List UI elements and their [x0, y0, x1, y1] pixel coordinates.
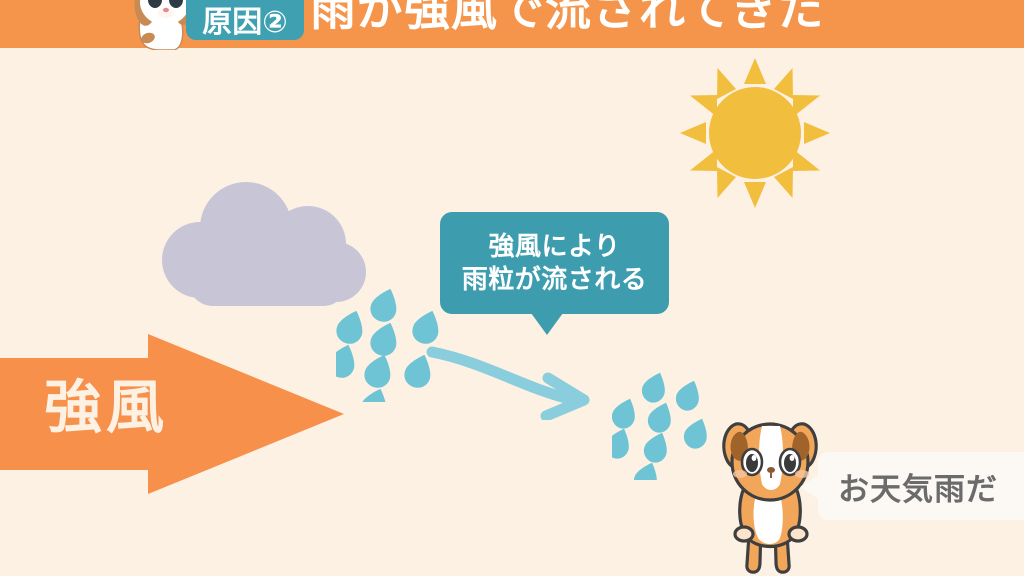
- wind-arrow-label: 強風: [44, 379, 168, 437]
- callout-text: 強風により 雨粒が流される: [440, 212, 669, 314]
- slide-canvas: 原因② 雨が強風で流されてきた: [0, 0, 1024, 576]
- speech-bubble: お天気雨だ: [818, 452, 1024, 520]
- sun-icon: [680, 58, 830, 208]
- callout-tail: [531, 313, 563, 335]
- speech-bubble-text: お天気雨だ: [818, 452, 1024, 520]
- curved-arrow-right-icon: [424, 338, 616, 420]
- rain-group-right: [612, 370, 722, 480]
- header-bar: 原因② 雨が強風で流されてきた: [0, 0, 1024, 48]
- header-badge-label: 原因②: [202, 8, 287, 38]
- speech-bubble-tail: [800, 474, 820, 500]
- header-badge: 原因②: [186, 0, 304, 40]
- page-title: 雨が強風で流されてきた: [310, 0, 824, 32]
- callout-bubble: 強風により 雨粒が流される: [440, 212, 669, 314]
